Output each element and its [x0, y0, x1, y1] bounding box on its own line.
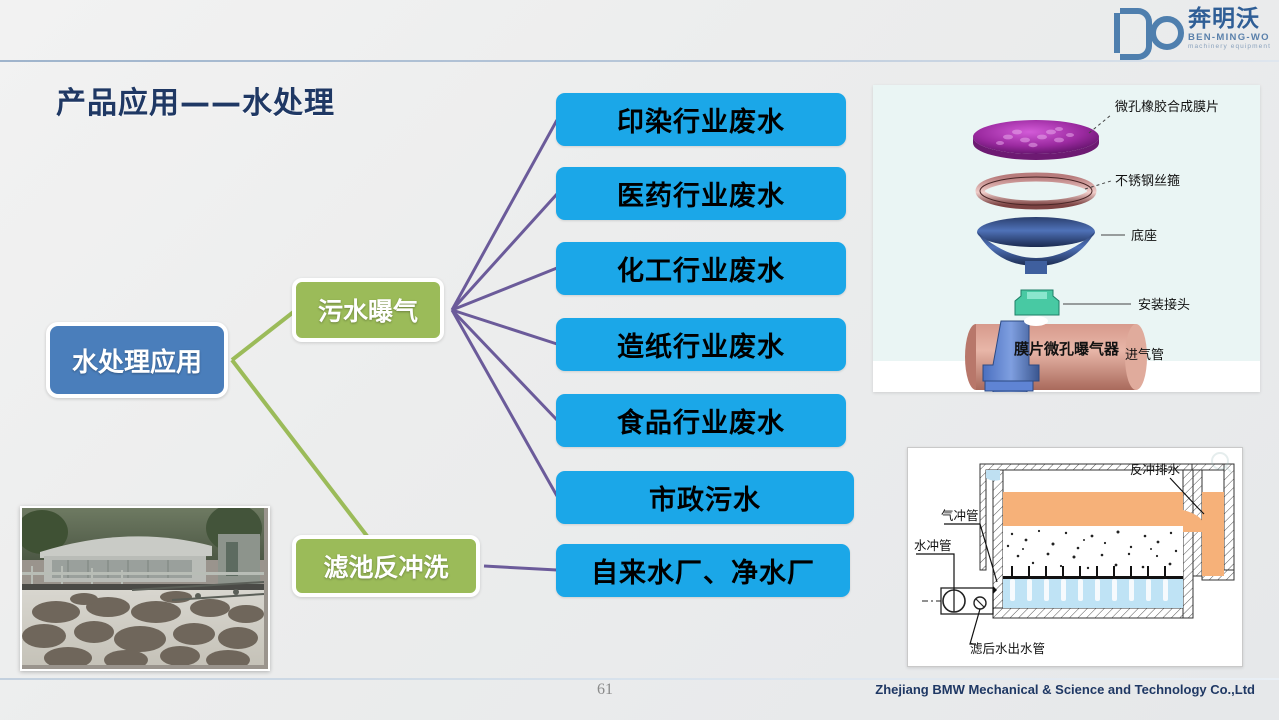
diffuser-caption-text: 膜片微孔曝气器 [873, 338, 1260, 359]
logo-bo-icon [1120, 9, 1184, 49]
mindmap-branch-backwash[interactable]: 滤池反冲洗 [292, 535, 480, 597]
link-branch1-leaf1 [452, 120, 557, 310]
link-branch1-leaf3 [452, 268, 557, 310]
logo-chinese-name: 奔明沃 [1188, 8, 1271, 31]
leaf-node-paper[interactable]: 造纸行业废水 [556, 318, 846, 371]
leaf-label: 自来水厂、净水厂 [591, 551, 815, 590]
link-branch2-leaf7 [484, 566, 557, 570]
header-divider [0, 60, 1279, 62]
filter-diagram-panel: 反冲排水 气冲管 水冲管 滤后水出水管 [907, 447, 1243, 667]
mindmap-root-node[interactable]: 水处理应用 [46, 322, 228, 398]
diffuser-label-1: 不锈钢丝箍 [1115, 173, 1180, 189]
leaf-node-chemical[interactable]: 化工行业废水 [556, 242, 846, 295]
filter-label-water-pipe: 水冲管 [914, 538, 952, 553]
slide-canvas: 奔明沃 BEN-MING-WO machinery equipment 产品应用… [0, 0, 1279, 720]
aeration-tank-photo [20, 506, 270, 671]
diffuser-diagram-panel: 微孔橡胶合成膜片 不锈钢丝箍 底座 安装接头 进气管 x 膜片微孔曝气器 [873, 85, 1260, 392]
aeration-tank-image [22, 508, 264, 665]
leaf-label: 食品行业废水 [617, 401, 785, 440]
footer-company-name: Zhejiang BMW Mechanical & Science and Te… [875, 682, 1255, 697]
logo-english-name: BEN-MING-WO [1188, 33, 1271, 43]
logo-tagline: machinery equipment [1188, 44, 1271, 51]
leaf-node-pharmaceutical[interactable]: 医药行业废水 [556, 167, 846, 220]
leaf-label: 印染行业废水 [617, 100, 785, 139]
link-branch1-leaf5 [452, 310, 557, 420]
link-branch1-leaf2 [452, 194, 557, 310]
footer-divider [0, 678, 1279, 680]
leaf-node-municipal[interactable]: 市政污水 [556, 471, 854, 524]
mindmap-branch-label: 滤池反冲洗 [323, 548, 448, 584]
leaf-label: 化工行业废水 [617, 249, 785, 288]
link-root-to-branch1 [232, 310, 296, 360]
page-number: 61 [597, 681, 613, 699]
filter-label-effluent-pipe: 滤后水出水管 [970, 641, 1045, 656]
link-branch1-leaf4 [452, 310, 557, 344]
mindmap-branch-aeration[interactable]: 污水曝气 [292, 278, 444, 342]
diffuser-label-3: 安装接头 [1138, 297, 1190, 313]
filter-label-backwash-drain: 反冲排水 [1130, 462, 1181, 477]
diffuser-label-2: 底座 [1131, 228, 1157, 244]
mindmap-root-label: 水处理应用 [72, 342, 202, 379]
leaf-label: 造纸行业废水 [617, 325, 785, 364]
leaf-node-printing-dyeing[interactable]: 印染行业废水 [556, 93, 846, 146]
leaf-label: 医药行业废水 [617, 174, 785, 213]
diffuser-label-0: 微孔橡胶合成膜片 [1115, 99, 1219, 115]
filter-label-air-pipe: 气冲管 [941, 508, 979, 523]
leaf-node-waterworks[interactable]: 自来水厂、净水厂 [556, 544, 850, 597]
leaf-label: 市政污水 [649, 478, 761, 517]
link-branch1-leaf6 [452, 310, 557, 496]
leaf-node-food[interactable]: 食品行业废水 [556, 394, 846, 447]
page-title: 产品应用——水处理 [56, 78, 335, 122]
company-logo: 奔明沃 BEN-MING-WO machinery equipment [1099, 2, 1271, 56]
filter-backwash-diagram: 反冲排水 气冲管 水冲管 滤后水出水管 [908, 448, 1240, 664]
mindmap-branch-label: 污水曝气 [318, 292, 418, 328]
